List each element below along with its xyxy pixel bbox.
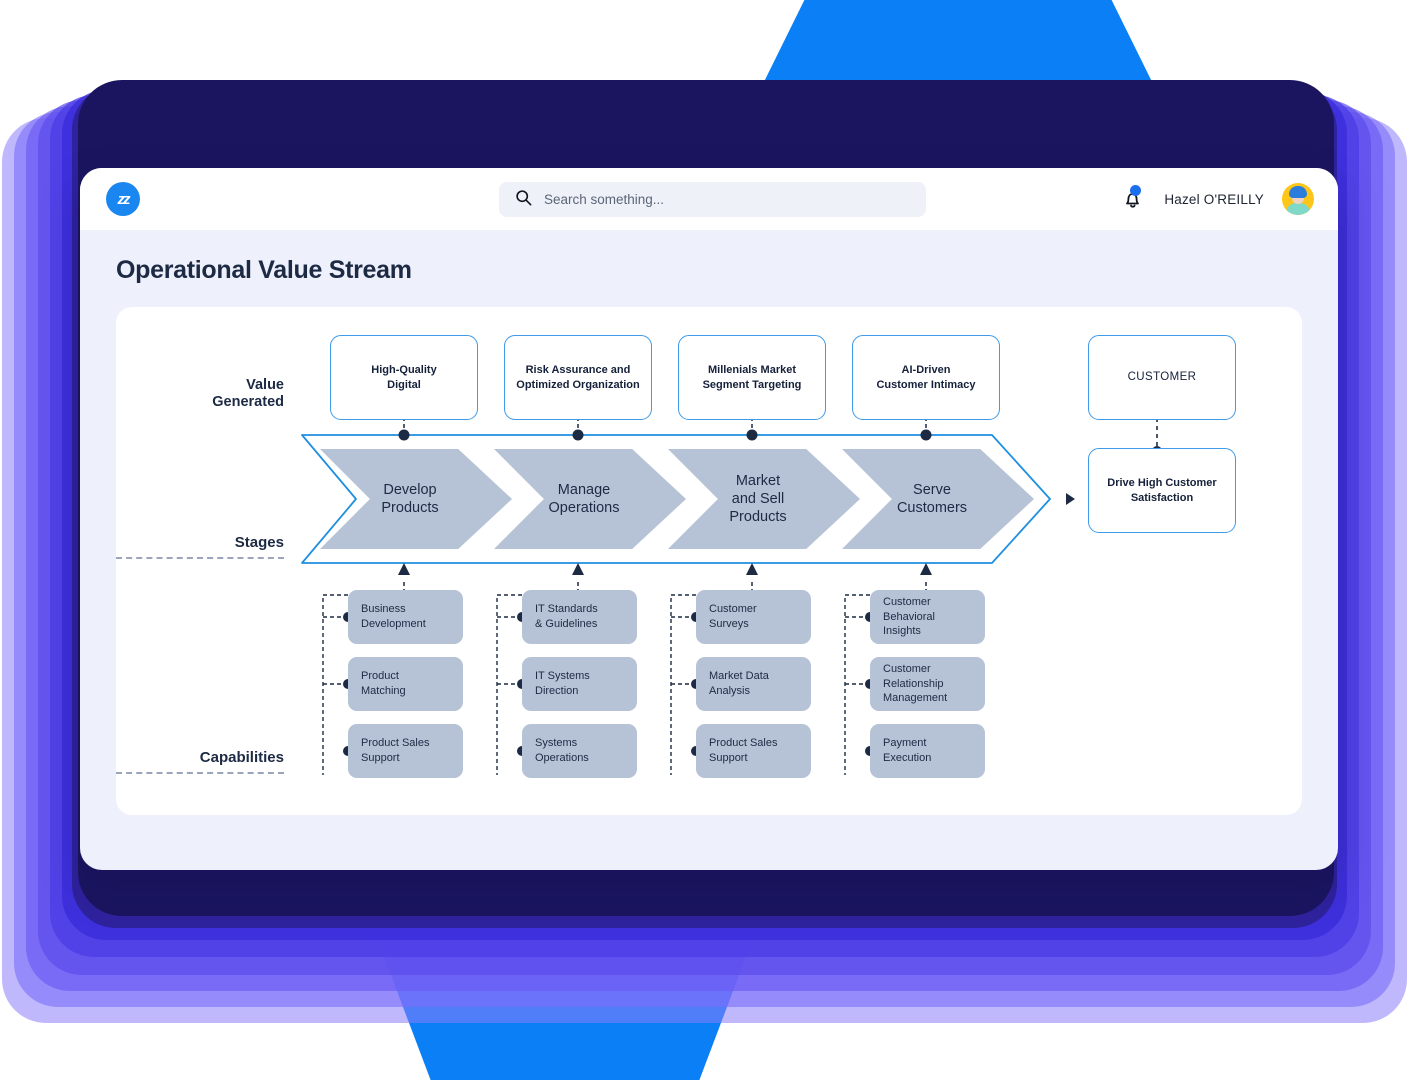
customer-outcome-line1: Drive High Customer <box>1107 476 1216 491</box>
diagram-card: Value Generated Stages Capabilities High… <box>116 307 1302 815</box>
page-title: Operational Value Stream <box>116 256 1302 285</box>
capability-box-c4-r1[interactable]: Customer Behavioral Insights <box>870 590 985 644</box>
capability-c2-r3-line1: Systems <box>535 736 589 751</box>
avatar[interactable] <box>1282 183 1314 215</box>
capability-c1-r3-line1: Product Sales <box>361 736 429 751</box>
capability-box-c1-r1[interactable]: Business Development <box>348 590 463 644</box>
search-bar[interactable] <box>499 182 926 217</box>
top-bar: zz Hazel O <box>80 168 1338 230</box>
stage-4-line1: Serve <box>897 481 967 499</box>
user-name: Hazel O'REILLY <box>1164 192 1264 207</box>
app-logo[interactable]: zz <box>106 182 140 216</box>
search-icon <box>515 189 532 211</box>
row-label-capabilities: Capabilities <box>116 749 284 774</box>
value-box-3-line1: Millenials Market <box>703 363 802 378</box>
value-box-2-line2: Optimized Organization <box>516 378 639 393</box>
stage-3-line1: Market <box>729 472 786 490</box>
capability-box-c2-r1[interactable]: IT Standards & Guidelines <box>522 590 637 644</box>
capability-c4-r1-line2: Behavioral <box>883 610 935 625</box>
value-box-1[interactable]: High-Quality Digital <box>330 335 478 420</box>
value-box-4[interactable]: AI-Driven Customer Intimacy <box>852 335 1000 420</box>
value-box-1-line2: Digital <box>371 378 436 393</box>
screenshot-root: zz Hazel O <box>0 0 1409 1092</box>
stage-4-line2: Customers <box>897 499 967 517</box>
capability-c3-r1-line1: Customer <box>709 602 757 617</box>
capability-c3-r1-line2: Surveys <box>709 617 757 632</box>
search-input[interactable] <box>544 192 910 207</box>
avatar-hair <box>1289 186 1307 198</box>
page-content: Operational Value Stream <box>80 230 1338 815</box>
customer-outcome-box[interactable]: Drive High Customer Satisfaction <box>1088 448 1236 533</box>
capability-c1-r2-line1: Product <box>361 669 406 684</box>
stage-3-line3: Products <box>729 508 786 526</box>
capability-c1-r2-line2: Matching <box>361 684 406 699</box>
row-label-value-line2: Generated <box>116 394 284 411</box>
capability-c4-r2-line3: Management <box>883 691 947 706</box>
capability-box-c2-r3[interactable]: Systems Operations <box>522 724 637 778</box>
capability-c3-r2-line1: Market Data <box>709 669 769 684</box>
value-box-4-line1: AI-Driven <box>876 363 975 378</box>
top-bar-right: Hazel O'REILLY <box>1120 168 1314 230</box>
capability-c2-r1-line2: & Guidelines <box>535 617 598 632</box>
capability-box-c4-r2[interactable]: Customer Relationship Management <box>870 657 985 711</box>
capability-box-c3-r2[interactable]: Market Data Analysis <box>696 657 811 711</box>
capability-c1-r1-line1: Business <box>361 602 426 617</box>
capability-c1-r1-line2: Development <box>361 617 426 632</box>
stage-1-line1: Develop <box>381 481 438 499</box>
capability-c2-r1-line1: IT Standards <box>535 602 598 617</box>
row-label-value-line1: Value <box>116 377 284 394</box>
row-label-value-generated: Value Generated <box>116 377 284 411</box>
app-logo-text: zz <box>118 191 129 208</box>
value-box-2[interactable]: Risk Assurance and Optimized Organizatio… <box>504 335 652 420</box>
customer-outcome-line2: Satisfaction <box>1107 491 1216 506</box>
app-window: zz Hazel O <box>80 168 1338 870</box>
capability-c2-r2-line1: IT Systems <box>535 669 590 684</box>
capability-box-c1-r2[interactable]: Product Matching <box>348 657 463 711</box>
capability-c1-r3-line2: Support <box>361 751 429 766</box>
capability-c2-r2-line2: Direction <box>535 684 590 699</box>
capability-box-c4-r3[interactable]: Payment Execution <box>870 724 985 778</box>
capability-c4-r2-line2: Relationship <box>883 677 947 692</box>
capability-box-c3-r1[interactable]: Customer Surveys <box>696 590 811 644</box>
value-box-3[interactable]: Millenials Market Segment Targeting <box>678 335 826 420</box>
capability-box-c3-r3[interactable]: Product Sales Support <box>696 724 811 778</box>
capability-box-c2-r2[interactable]: IT Systems Direction <box>522 657 637 711</box>
capability-c3-r3-line1: Product Sales <box>709 736 777 751</box>
stage-3-line2: and Sell <box>729 490 786 508</box>
stage-2-line1: Manage <box>549 481 620 499</box>
value-box-2-line1: Risk Assurance and <box>516 363 639 378</box>
value-box-3-line2: Segment Targeting <box>703 378 802 393</box>
value-box-1-line1: High-Quality <box>371 363 436 378</box>
capability-box-c1-r3[interactable]: Product Sales Support <box>348 724 463 778</box>
capability-c2-r3-line2: Operations <box>535 751 589 766</box>
stage-1-line2: Products <box>381 499 438 517</box>
capability-c4-r3-line2: Execution <box>883 751 931 766</box>
capability-c4-r2-line1: Customer <box>883 662 947 677</box>
value-stream-diagram: Value Generated Stages Capabilities High… <box>116 307 1302 815</box>
capability-c4-r1-line1: Customer <box>883 595 935 610</box>
value-box-4-line2: Customer Intimacy <box>876 378 975 393</box>
stage-2-line2: Operations <box>549 499 620 517</box>
capability-c3-r2-line2: Analysis <box>709 684 769 699</box>
notification-bell-icon[interactable] <box>1120 186 1146 212</box>
avatar-body <box>1286 203 1310 215</box>
row-label-stages: Stages <box>116 534 284 559</box>
customer-box[interactable]: CUSTOMER <box>1088 335 1236 420</box>
capability-c4-r1-line3: Insights <box>883 624 935 639</box>
capability-c3-r3-line2: Support <box>709 751 777 766</box>
capability-c4-r3-line1: Payment <box>883 736 931 751</box>
customer-box-label: CUSTOMER <box>1128 370 1197 386</box>
